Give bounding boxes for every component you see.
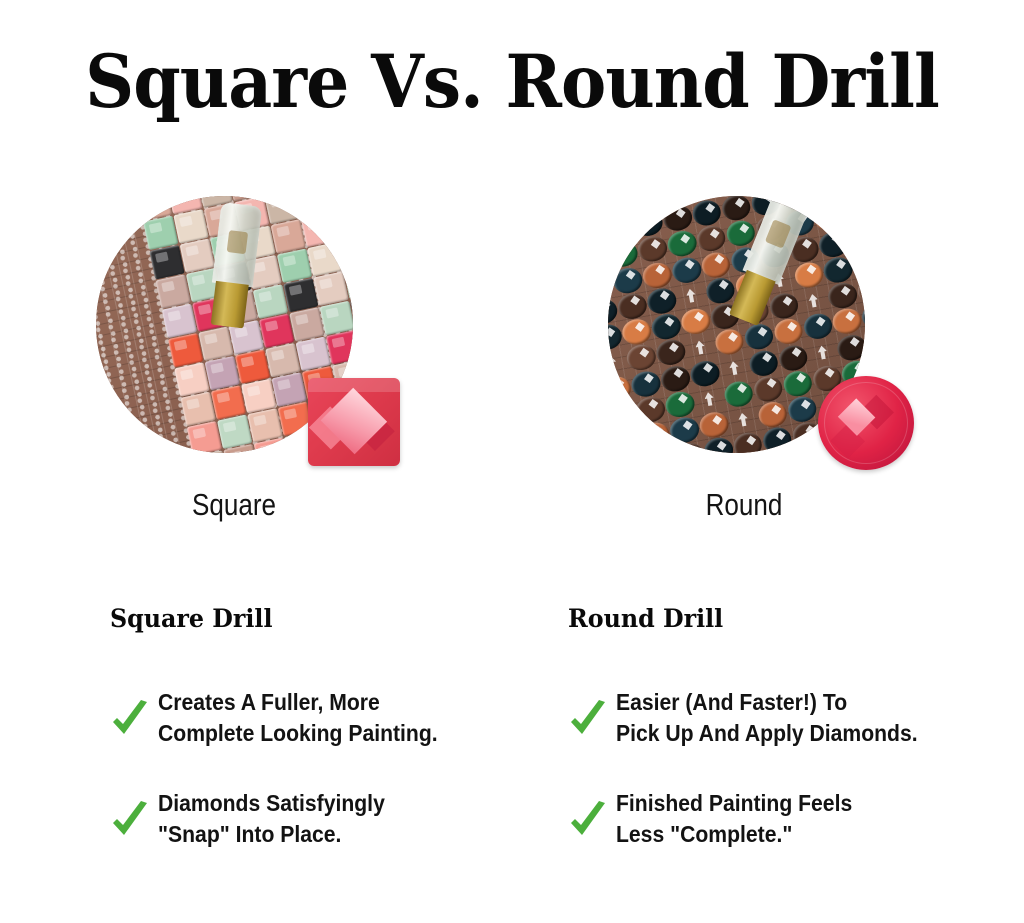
column-round-drill: Round Drill Easier (And Faster!) To Pick… (568, 604, 1024, 889)
square-red-gem (308, 378, 400, 466)
caption-round: Round (529, 487, 959, 523)
list-item-label: Diamonds Satisfyingly "Snap" Into Place. (158, 788, 385, 849)
column-heading-square: Square Drill (110, 604, 557, 633)
list-item: Creates A Fuller, More Complete Looking … (110, 687, 580, 748)
round-red-gem (818, 376, 914, 470)
list-item: Easier (And Faster!) To Pick Up And Appl… (568, 687, 1024, 748)
column-square-drill: Square Drill Creates A Fuller, More Comp… (110, 604, 580, 889)
check-icon (568, 799, 608, 843)
check-icon (110, 799, 150, 843)
comparison-columns: Square Drill Creates A Fuller, More Comp… (0, 604, 1024, 904)
list-item: Diamonds Satisfyingly "Snap" Into Place. (110, 788, 580, 849)
round-photo-stage (608, 196, 928, 486)
square-photo-column (0, 196, 512, 486)
bullet-list-round: Easier (And Faster!) To Pick Up And Appl… (568, 687, 1024, 849)
infographic-page: Square Vs. Round Drill (0, 0, 1024, 923)
photo-comparison-row (0, 196, 1024, 486)
list-item-label: Creates A Fuller, More Complete Looking … (158, 687, 438, 748)
check-icon (110, 698, 150, 742)
round-photo-column (512, 196, 1024, 486)
bullet-list-square: Creates A Fuller, More Complete Looking … (110, 687, 580, 849)
list-item-label: Easier (And Faster!) To Pick Up And Appl… (616, 687, 918, 748)
page-title: Square Vs. Round Drill (36, 46, 988, 119)
check-icon (568, 698, 608, 742)
square-photo-stage (96, 196, 416, 486)
column-heading-round: Round Drill (568, 604, 1015, 633)
photo-captions: Square Round (0, 487, 1024, 529)
caption-square: Square (19, 487, 449, 523)
list-item-label: Finished Painting Feels Less "Complete." (616, 788, 852, 849)
list-item: Finished Painting Feels Less "Complete." (568, 788, 1024, 849)
